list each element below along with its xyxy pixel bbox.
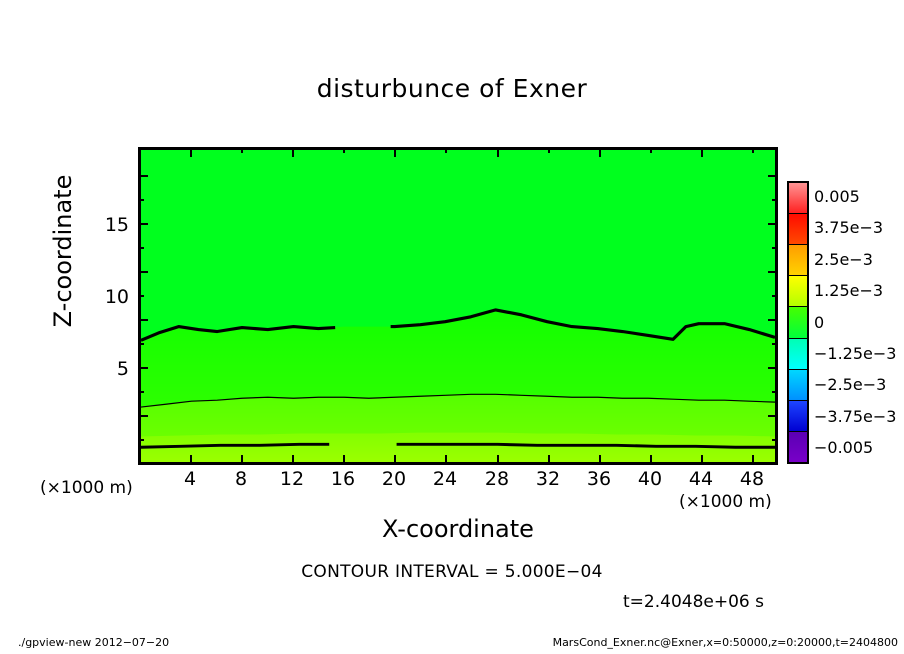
y-tick-13 xyxy=(138,391,144,393)
x-tick-28 xyxy=(497,455,499,465)
colorbar-band-3 xyxy=(789,276,807,307)
colorbar-band-7 xyxy=(789,401,807,432)
x-tick-40 xyxy=(650,455,652,465)
y-tick-11 xyxy=(138,343,144,345)
y-tick-label-15: 15 xyxy=(95,214,129,236)
colorbar-label-3: 1.25e−3 xyxy=(814,283,883,299)
x-tick-top-40 xyxy=(650,147,652,153)
x-tick-top-20 xyxy=(394,147,396,157)
y-tick-right-4 xyxy=(772,247,778,249)
y-tick-right-11 xyxy=(768,415,778,417)
x-tick-top-4 xyxy=(190,147,192,157)
x-tick-44 xyxy=(701,455,703,465)
y-tick-7 xyxy=(138,295,144,297)
x-tick-20 xyxy=(394,455,396,465)
time-stamp: t=2.4048e+06 s xyxy=(0,592,884,612)
x-tick-label-48: 48 xyxy=(722,468,782,490)
colorbar-label-2: 2.5e−3 xyxy=(814,252,873,268)
y-tick-label-10: 10 xyxy=(95,286,129,308)
y-tick-6 xyxy=(138,271,148,273)
y-tick-right-6 xyxy=(772,295,778,297)
x-tick-top-12 xyxy=(292,147,294,157)
x-tick-4 xyxy=(190,455,192,465)
y-tick-label-5: 5 xyxy=(95,358,129,380)
colorbar-band-6 xyxy=(789,370,807,401)
y-axis-units: (×1000 m) xyxy=(40,478,133,498)
y-tick-right-9 xyxy=(768,367,778,369)
x-tick-24 xyxy=(445,455,447,465)
y-tick-right-10 xyxy=(772,391,778,393)
y-tick-10 xyxy=(138,319,148,321)
x-tick-top-16 xyxy=(343,147,345,153)
x-tick-top-48 xyxy=(752,147,754,153)
x-tick-32 xyxy=(548,455,550,465)
colorbar-label-5: −1.25e−3 xyxy=(814,346,896,362)
y-tick-16 xyxy=(138,439,144,441)
colorbar-label-6: −2.5e−3 xyxy=(814,377,886,393)
x-tick-top-24 xyxy=(445,147,447,153)
x-tick-top-28 xyxy=(497,147,499,157)
y-tick-3 xyxy=(138,223,148,225)
x-tick-12 xyxy=(292,455,294,465)
footer-source: MarsCond_Exner.nc@Exner,x=0:50000,z=0:20… xyxy=(0,636,898,649)
x-tick-top-36 xyxy=(599,147,601,157)
colorbar-label-0: 0.005 xyxy=(814,189,860,205)
colorbar-labels: 0.0053.75e−32.5e−31.25e−30−1.25e−3−2.5e−… xyxy=(814,181,902,464)
y-tick-right-5 xyxy=(768,271,778,273)
y-tick-right-1 xyxy=(768,175,778,177)
colorbar-band-5 xyxy=(789,339,807,370)
x-axis-title: X-coordinate xyxy=(138,515,778,543)
colorbar-band-2 xyxy=(789,245,807,276)
x-tick-48 xyxy=(752,455,754,465)
colorbar-label-7: −3.75e−3 xyxy=(814,409,896,425)
y-tick-1 xyxy=(138,175,148,177)
x-axis-units: (×1000 m) xyxy=(679,492,772,512)
y-tick-right-3 xyxy=(768,223,778,225)
y-tick-right-2 xyxy=(772,199,778,201)
x-tick-8 xyxy=(241,455,243,465)
contour-plot-area[interactable]: 0.00 0.001 xyxy=(138,147,778,465)
x-tick-top-32 xyxy=(548,147,550,153)
y-tick-15 xyxy=(138,415,148,417)
page-title: disturbunce of Exner xyxy=(0,74,904,103)
contour-interval-note: CONTOUR INTERVAL = 5.000E−04 xyxy=(0,562,904,582)
y-tick-right-7 xyxy=(768,319,778,321)
y-tick-right-8 xyxy=(772,343,778,345)
colorbar-label-4: 0 xyxy=(814,315,824,331)
y-axis-title: Z-coordinate xyxy=(49,141,77,361)
y-tick-5 xyxy=(138,247,144,249)
colorbar-band-8 xyxy=(789,432,807,462)
contour-field xyxy=(141,150,775,462)
x-tick-label-24: 24 xyxy=(415,468,475,490)
x-tick-top-8 xyxy=(241,147,243,153)
colorbar[interactable] xyxy=(787,181,809,464)
x-tick-36 xyxy=(599,455,601,465)
y-tick-right-12 xyxy=(772,439,778,441)
y-tick-12 xyxy=(138,367,148,369)
colorbar-label-1: 3.75e−3 xyxy=(814,220,883,236)
colorbar-band-1 xyxy=(789,214,807,245)
colorbar-band-4 xyxy=(789,307,807,338)
y-tick-2 xyxy=(138,199,144,201)
colorbar-band-0 xyxy=(789,183,807,214)
colorbar-label-8: −0.005 xyxy=(814,440,873,456)
x-tick-16 xyxy=(343,455,345,465)
x-tick-top-44 xyxy=(701,147,703,157)
